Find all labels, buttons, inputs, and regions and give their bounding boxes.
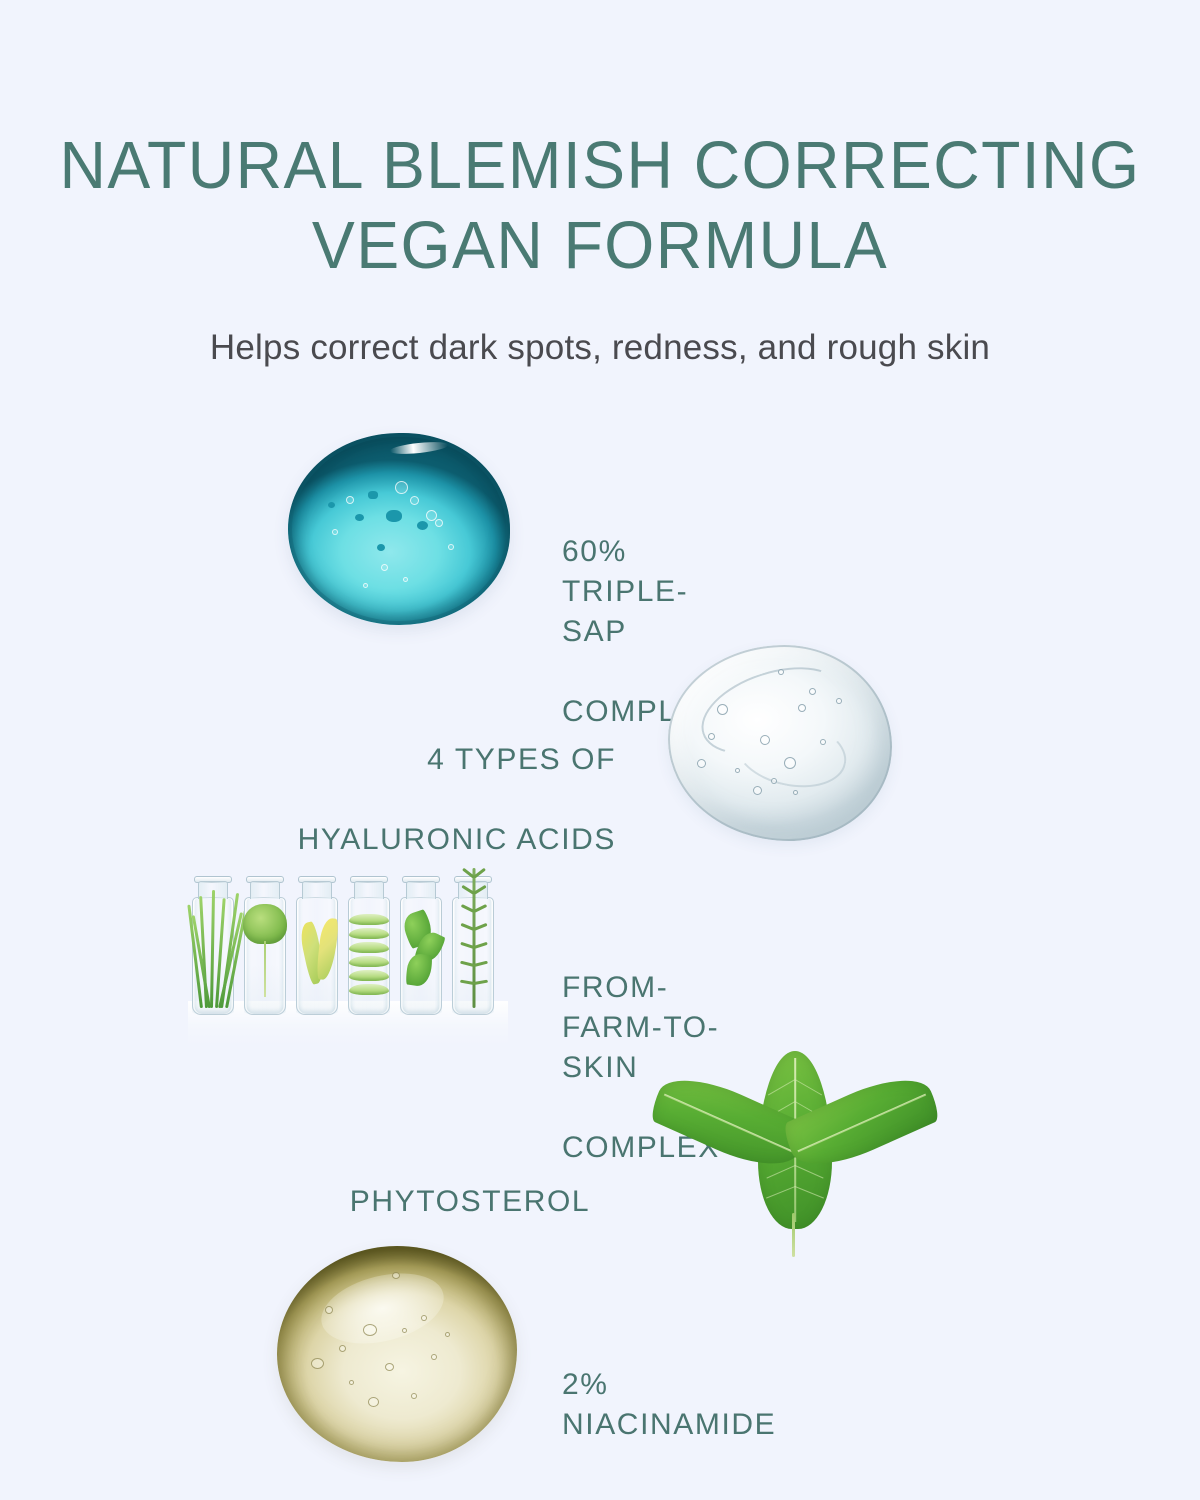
vial-mint — [400, 897, 442, 1015]
page-subtitle: Helps correct dark spots, redness, and r… — [0, 325, 1200, 371]
vial-rosemary — [452, 897, 494, 1015]
blue-gel-droplet-icon — [288, 433, 510, 625]
ingredient-label-niacinamide: 2% NIACINAMIDE — [562, 1325, 776, 1445]
ingredient-label-line1: 4 TYPES OF — [427, 743, 616, 776]
ingredient-label-line1: 60% TRIPLE-SAP — [562, 535, 688, 648]
green-leaves-trio-icon — [640, 1045, 960, 1260]
ingredient-label-line1: 2% NIACINAMIDE — [562, 1368, 776, 1441]
vial-avocado — [296, 897, 338, 1015]
gold-oil-droplet-icon — [277, 1246, 517, 1462]
vial-aloe — [348, 897, 390, 1015]
ingredient-label-phytosterol: PHYTOSTEROL — [270, 1142, 670, 1222]
infographic-page: NATURAL BLEMISH CORRECTING VEGAN FORMULA… — [0, 0, 1200, 1500]
clear-gel-droplet-icon — [668, 645, 892, 841]
page-title-line2: VEGAN FORMULA — [24, 206, 1176, 286]
ingredient-label-line1: PHYTOSTEROL — [350, 1185, 590, 1218]
herb-vials-row-icon — [188, 860, 508, 1045]
ingredient-label-hyaluronic: 4 TYPES OF HYALURONIC ACIDS — [258, 700, 616, 860]
page-title-line1: NATURAL BLEMISH CORRECTING — [60, 128, 1141, 203]
vial-centella — [244, 897, 286, 1015]
ingredient-label-line2: HYALURONIC ACIDS — [298, 823, 616, 856]
page-title: NATURAL BLEMISH CORRECTING VEGAN FORMULA — [24, 126, 1176, 286]
vial-chives — [192, 897, 234, 1015]
